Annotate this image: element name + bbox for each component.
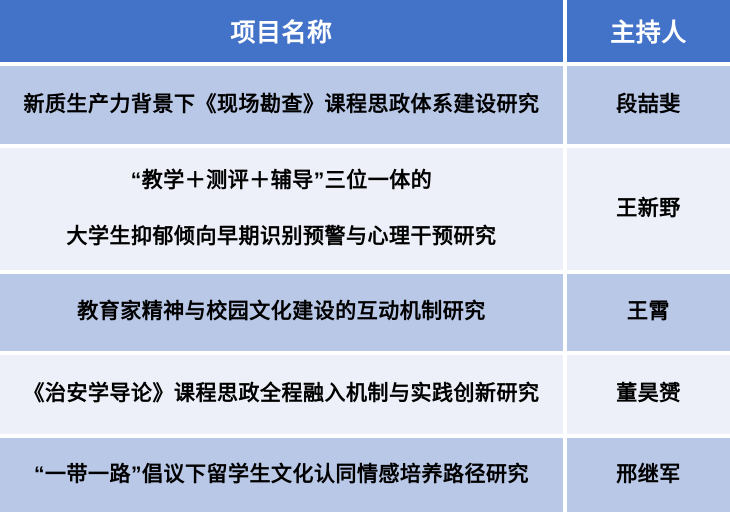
cell-project-name: “教学＋测评＋辅导”三位一体的 大学生抑郁倾向早期识别预警与心理干预研究 [0,148,563,270]
project-name-text: “一带一路”倡议下留学生文化认同情感培养路径研究 [34,460,529,490]
table-row: 《治安学导论》课程思政全程融入机制与实践创新研究 董昊赟 [0,355,730,434]
table-row: “一带一路”倡议下留学生文化认同情感培养路径研究 邢继军 [0,438,730,512]
table-header-row: 项目名称 主持人 [0,0,730,62]
cell-host: 邢继军 [567,438,730,512]
project-name-text: 《治安学导论》课程思政全程融入机制与实践创新研究 [24,379,540,409]
cell-host: 王新野 [567,148,730,270]
cell-host: 段喆斐 [567,66,730,144]
cell-project-name: 新质生产力背景下《现场勘查》课程思政体系建设研究 [0,66,563,144]
project-name-line-2: 大学生抑郁倾向早期识别预警与心理干预研究 [67,222,497,252]
cell-project-name: 教育家精神与校园文化建设的互动机制研究 [0,274,563,351]
cell-project-name: 《治安学导论》课程思政全程融入机制与实践创新研究 [0,355,563,434]
project-name-text: “教学＋测评＋辅导”三位一体的 大学生抑郁倾向早期识别预警与心理干预研究 [67,166,497,253]
table-row: 教育家精神与校园文化建设的互动机制研究 王霄 [0,274,730,351]
column-header-host: 主持人 [567,0,730,62]
project-name-text: 教育家精神与校园文化建设的互动机制研究 [77,297,486,327]
column-header-project-name: 项目名称 [0,0,563,62]
project-name-line-1: “教学＋测评＋辅导”三位一体的 [131,166,433,196]
projects-table: 项目名称 主持人 新质生产力背景下《现场勘查》课程思政体系建设研究 段喆斐 “教… [0,0,730,517]
table-row: 新质生产力背景下《现场勘查》课程思政体系建设研究 段喆斐 [0,66,730,144]
cell-project-name: “一带一路”倡议下留学生文化认同情感培养路径研究 [0,438,563,512]
cell-host: 董昊赟 [567,355,730,434]
project-name-text: 新质生产力背景下《现场勘查》课程思政体系建设研究 [24,90,540,120]
cell-host: 王霄 [567,274,730,351]
table-row: “教学＋测评＋辅导”三位一体的 大学生抑郁倾向早期识别预警与心理干预研究 王新野 [0,148,730,270]
